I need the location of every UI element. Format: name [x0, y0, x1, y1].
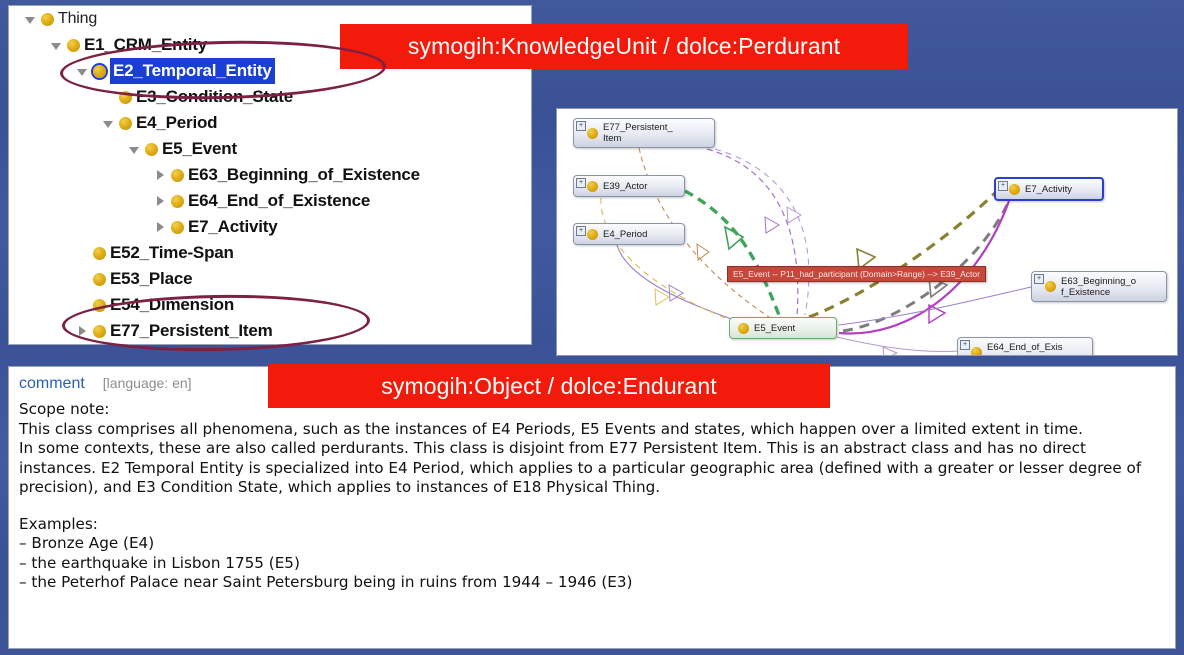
expand-node-icon[interactable]: + [576, 178, 586, 188]
tree-item-label: E53_Place [110, 266, 192, 292]
class-node-icon [587, 229, 598, 240]
tree-item-e5_event[interactable]: E5_Event [9, 136, 531, 162]
expand-node-icon[interactable]: + [576, 226, 586, 236]
tree-item-label: E5_Event [162, 136, 237, 162]
scope-note-paragraph-2: In some contexts, these are also called … [19, 439, 1165, 498]
tree-item-e4_period[interactable]: E4_Period [9, 110, 531, 136]
expand-triangle-icon[interactable] [153, 194, 168, 209]
graph-node-label: E39_Actor [603, 181, 647, 192]
class-node-icon [41, 13, 54, 26]
tree-item-label: E64_End_of_Existence [188, 188, 370, 214]
collapse-triangle-icon[interactable] [23, 12, 38, 27]
tree-item-label: E7_Activity [188, 214, 277, 240]
tree-item-label: E4_Period [136, 110, 217, 136]
tree-spacer-icon [75, 272, 90, 287]
collapse-triangle-icon[interactable] [101, 116, 116, 131]
tree-item-e53_place[interactable]: E53_Place [9, 266, 531, 292]
graph-node-e64-end-of-exis[interactable]: +E64_End_of_Exis tence [957, 337, 1093, 356]
graph-node-label: E64_End_of_Exis tence [987, 342, 1063, 357]
graph-node-e7-activity[interactable]: +E7_Activity [994, 177, 1104, 201]
graph-node-e5-event[interactable]: E5_Event [729, 317, 837, 339]
class-node-icon [93, 273, 106, 286]
expand-triangle-icon[interactable] [153, 168, 168, 183]
expand-node-icon[interactable]: + [960, 340, 970, 350]
annotation-banner-perdurant: symogih:KnowledgeUnit / dolce:Perdurant [340, 24, 908, 69]
expand-triangle-icon[interactable] [153, 220, 168, 235]
graph-node-label: E5_Event [754, 323, 795, 334]
scope-note-paragraph-1: This class comprises all phenomena, such… [19, 420, 1165, 440]
class-node-icon [1009, 184, 1020, 195]
comment-annotation-panel[interactable]: comment [language: en] Scope note: This … [8, 366, 1176, 649]
expand-node-icon[interactable]: + [1034, 274, 1044, 284]
class-node-icon [119, 117, 132, 130]
class-node-icon [171, 169, 184, 182]
tree-item-e7_activity[interactable]: E7_Activity [9, 214, 531, 240]
graph-node-e77-persistent-[interactable]: +E77_Persistent_ Item [573, 118, 715, 148]
collapse-triangle-icon[interactable] [49, 38, 64, 53]
comment-body: Scope note: This class comprises all phe… [19, 400, 1165, 593]
comment-key-label: comment [19, 375, 85, 393]
tree-item-e52_time-span[interactable]: E52_Time-Span [9, 240, 531, 266]
edge-tooltip: E5_Event -- P11_had_participant (Domain>… [727, 266, 986, 282]
class-node-icon [971, 347, 982, 356]
graph-node-label: E4_Period [603, 229, 647, 240]
expand-node-icon[interactable]: + [576, 121, 586, 131]
tree-item-e63_beginning_of_existence[interactable]: E63_Beginning_of_Existence [9, 162, 531, 188]
graph-node-e39-actor[interactable]: +E39_Actor [573, 175, 685, 197]
tree-item-label: E63_Beginning_of_Existence [188, 162, 420, 188]
example-item: – the Peterhof Palace near Saint Petersb… [19, 573, 1165, 593]
class-node-icon [171, 195, 184, 208]
graph-node-e4-period[interactable]: +E4_Period [573, 223, 685, 245]
expand-node-icon[interactable]: + [998, 181, 1008, 191]
graph-node-label: E63_Beginning_o f_Existence [1061, 276, 1136, 298]
tree-spacer-icon [75, 246, 90, 261]
class-node-icon [738, 323, 749, 334]
collapse-triangle-icon[interactable] [127, 142, 142, 157]
class-node-icon [587, 181, 598, 192]
example-item: – Bronze Age (E4) [19, 534, 1165, 554]
tree-item-e64_end_of_existence[interactable]: E64_End_of_Existence [9, 188, 531, 214]
graph-node-label: E77_Persistent_ Item [603, 122, 673, 144]
graph-node-e63-beginning-o[interactable]: +E63_Beginning_o f_Existence [1031, 271, 1167, 302]
class-node-icon [145, 143, 158, 156]
class-node-icon [93, 247, 106, 260]
example-item: – the earthquake in Lisbon 1755 (E5) [19, 554, 1165, 574]
annotation-banner-endurant: symogih:Object / dolce:Endurant [268, 364, 830, 408]
comment-spacer [19, 498, 1165, 515]
comment-language-label: [language: en] [103, 375, 192, 391]
tree-item-label: Thing [58, 6, 97, 32]
class-node-icon [1045, 281, 1056, 292]
class-node-icon [171, 221, 184, 234]
class-node-icon [67, 39, 80, 52]
tree-item-label: E52_Time-Span [110, 240, 234, 266]
examples-heading: Examples: [19, 515, 1165, 535]
class-node-icon [587, 128, 598, 139]
ontology-graph-panel[interactable]: E5_Event -- P11_had_participant (Domain>… [556, 108, 1178, 356]
graph-node-label: E7_Activity [1025, 184, 1072, 195]
